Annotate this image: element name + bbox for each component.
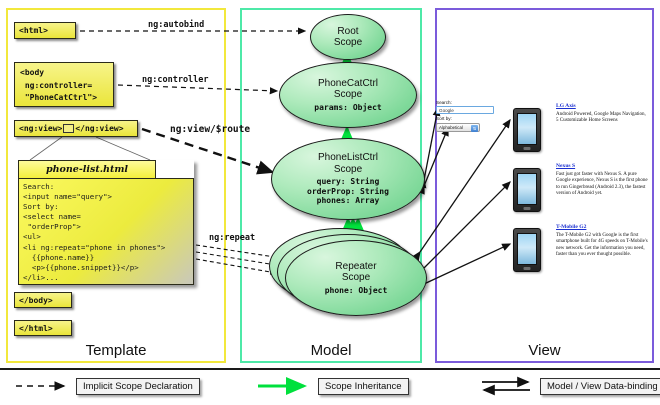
- phone-link-2[interactable]: Nexus S: [556, 163, 648, 169]
- phone-snippet-2: Fast just got faster with Nexus S. A pur…: [556, 172, 648, 198]
- scope-repeater[interactable]: Repeater Scope phone: Object: [285, 240, 427, 316]
- scope-repeater-props: phone: Object: [325, 286, 388, 296]
- phone-link-3[interactable]: T-Mobile G2: [556, 224, 648, 230]
- sort-select-value: Alphabetical: [439, 125, 463, 130]
- phone-link-1[interactable]: LG Axis: [556, 103, 648, 109]
- phone-snippet-1: Android Powered, Google Maps Navigation,…: [556, 112, 648, 125]
- tag-body-close[interactable]: </body>: [14, 292, 72, 308]
- legend-label-scope-inheritance: Scope Inheritance: [318, 378, 409, 395]
- tag-body-close-text: </body>: [19, 296, 53, 305]
- dashed-arrow-icon: [14, 376, 70, 396]
- ngview-placeholder-icon: [63, 124, 74, 133]
- legend-item-implicit-scope: Implicit Scope Declaration: [14, 376, 200, 396]
- phone-screen: [517, 233, 537, 265]
- legend-item-data-binding: Model / View Data-binding: [478, 376, 660, 396]
- phone-home-button-icon: [524, 207, 531, 210]
- scope-repeater-name: Repeater Scope: [335, 261, 376, 284]
- scope-phonelistctrl[interactable]: PhoneListCtrl Scope query: String orderP…: [271, 138, 425, 220]
- panel-template-label: Template: [8, 342, 224, 359]
- phone-home-button-icon: [524, 147, 531, 150]
- scope-phonecatctrl-name: PhoneCatCtrl Scope: [318, 78, 378, 101]
- sort-select[interactable]: Alphabetical ⇅: [436, 123, 480, 132]
- phone-entry-3: T-Mobile G2 The T-Mobile G2 with Google …: [556, 224, 648, 259]
- scope-root[interactable]: Root Scope: [310, 14, 386, 60]
- phone-entry-1: LG Axis Android Powered, Google Maps Nav…: [556, 103, 648, 125]
- phone-thumbnail-2: [513, 168, 541, 212]
- tag-html-open[interactable]: <html>: [14, 22, 76, 39]
- view-search-form: Search: Google Sort by: Alphabetical ⇅: [436, 100, 498, 132]
- tag-body-open[interactable]: <body ng:controller= "PhoneCatCtrl">: [14, 62, 114, 107]
- tag-html-close-text: </html>: [19, 324, 53, 333]
- legend-item-scope-inheritance: Scope Inheritance: [256, 376, 409, 396]
- search-input[interactable]: Google: [436, 106, 494, 114]
- code-note-title: phone-list.html: [18, 160, 156, 178]
- phone-snippet-3: The T-Mobile G2 with Google is the first…: [556, 233, 648, 259]
- tag-body-open-text: <body ng:controller= "PhoneCatCtrl">: [20, 68, 97, 102]
- code-note-phone-list: phone-list.html Search: <input name="que…: [18, 160, 194, 285]
- tag-html-close[interactable]: </html>: [14, 320, 72, 336]
- tag-ngview[interactable]: <ng:view> </ng:view>: [14, 120, 138, 137]
- green-arrow-icon: [256, 376, 312, 396]
- scope-root-name: Root Scope: [334, 26, 362, 49]
- phone-entry-2: Nexus S Fast just got faster with Nexus …: [556, 163, 648, 198]
- double-arrow-icon: [478, 376, 534, 396]
- scope-phonecatctrl[interactable]: PhoneCatCtrl Scope params: Object: [279, 62, 417, 128]
- legend-label-implicit-scope: Implicit Scope Declaration: [76, 378, 200, 395]
- legend: Implicit Scope Declaration Scope Inherit…: [0, 370, 660, 405]
- diagram-canvas: Template Model View: [0, 0, 660, 405]
- panel-view-label: View: [437, 342, 652, 359]
- tag-html-open-text: <html>: [19, 26, 48, 35]
- label-ng-repeat: ng:repeat: [209, 233, 255, 243]
- phone-screen: [517, 173, 537, 205]
- label-ng-view-route: ng:view/$route: [170, 124, 250, 135]
- tag-ngview-close-text: </ng:view>: [75, 124, 123, 133]
- legend-label-data-binding: Model / View Data-binding: [540, 378, 660, 395]
- label-ng-controller: ng:controller: [142, 75, 209, 85]
- phone-screen: [517, 113, 537, 145]
- tag-ngview-open-text: <ng:view>: [19, 124, 62, 133]
- code-note-body: Search: <input name="query"> Sort by: <s…: [18, 178, 194, 285]
- scope-phonelistctrl-name: PhoneListCtrl Scope: [318, 152, 378, 175]
- chevron-updown-icon: ⇅: [471, 125, 478, 132]
- scope-phonelistctrl-props: query: String orderProp: String phones: …: [307, 177, 389, 206]
- phone-thumbnail-1: [513, 108, 541, 152]
- panel-model-label: Model: [242, 342, 420, 359]
- phone-home-button-icon: [524, 267, 531, 270]
- label-ng-autobind: ng:autobind: [148, 20, 204, 30]
- scope-phonecatctrl-props: params: Object: [314, 103, 381, 113]
- phone-thumbnail-3: [513, 228, 541, 272]
- sort-label: Sort by:: [436, 116, 498, 122]
